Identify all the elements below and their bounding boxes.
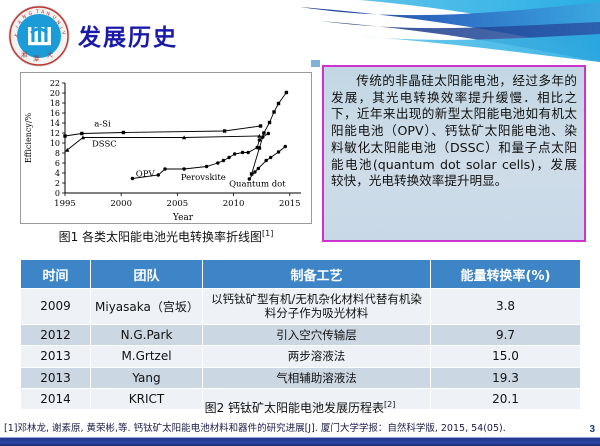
table-header-row: 时间 团队 制备工艺 能量转换率(%) [21, 260, 581, 289]
svg-text:10: 10 [50, 139, 60, 148]
figure1-caption-text: 图1 各类太阳能电池光电转换率折线图 [59, 230, 262, 244]
cell-process: 两步溶液法 [203, 346, 431, 367]
figure2-caption-ref: [2] [384, 400, 395, 409]
svg-text:8: 8 [55, 149, 60, 158]
figure2-caption-text: 图2 钙钛矿太阳能电池发展历程表 [205, 401, 384, 415]
figure1-caption-ref: [1] [262, 229, 273, 238]
explanation-textbox: 传统的非晶硅太阳能电池，经过多年的发展，其光电转换效率提升缓慢．相比之下，近年来… [322, 65, 586, 242]
perovskite-history-table: 时间 团队 制备工艺 能量转换率(%) 2009Miyasaka（宫坂）以钙钛矿… [20, 259, 580, 410]
svg-text:DSSC: DSSC [92, 140, 117, 150]
cell-time: 2012 [21, 324, 91, 345]
cell-team: N.G.Park [91, 324, 203, 345]
svg-text:大: 大 [47, 51, 53, 59]
figure2-caption: 图2 钙钛矿太阳能电池发展历程表[2] [20, 399, 580, 416]
svg-text:4: 4 [55, 169, 60, 178]
svg-text:14: 14 [50, 119, 60, 128]
page-title: 发展历史 [78, 18, 178, 52]
svg-text:潭: 潭 [33, 55, 39, 63]
svg-text:OPV: OPV [136, 170, 156, 180]
efficiency-line-chart: 024681012141618202219952000200520102015Y… [20, 72, 312, 224]
slide-root: 湘潭大 X I A N G T A N U N I V 发展历史 0246810… [0, 0, 600, 446]
cell-process: 以钙钛矿型有机/无机杂化材料代替有机染料分子作为吸光材料 [203, 289, 431, 325]
cell-efficiency: 19.3 [431, 367, 581, 388]
column-header-process: 制备工艺 [203, 260, 431, 289]
svg-text:2015: 2015 [279, 199, 301, 209]
explanation-textbox-body: 传统的非晶硅太阳能电池，经过多年的发展，其光电转换效率提升缓慢．相比之下，近年来… [331, 73, 577, 190]
svg-text:2005: 2005 [167, 199, 189, 209]
table-row: 2013Yang气相辅助溶液法19.3 [21, 367, 581, 388]
svg-text:1995: 1995 [54, 199, 76, 209]
svg-text:2000: 2000 [110, 199, 132, 209]
svg-text:16: 16 [50, 109, 60, 118]
page-number: 3 [589, 424, 595, 435]
cell-process: 引入空穴传输层 [203, 324, 431, 345]
header-swoosh-decoration [240, 0, 600, 62]
svg-text:12: 12 [50, 129, 60, 138]
cell-efficiency: 9.7 [431, 324, 581, 345]
table-row: 2012N.G.Park引入空穴传输层9.7 [21, 324, 581, 345]
table-row: 2009Miyasaka（宫坂）以钙钛矿型有机/无机杂化材料代替有机染料分子作为… [21, 289, 581, 325]
cell-efficiency: 3.8 [431, 289, 581, 325]
cell-time: 2013 [21, 346, 91, 367]
svg-text:18: 18 [50, 99, 60, 108]
table-row: 2013M.Grtzel两步溶液法15.0 [21, 346, 581, 367]
cell-process: 气相辅助溶液法 [203, 367, 431, 388]
table-body: 2009Miyasaka（宫坂）以钙钛矿型有机/无机杂化材料代替有机染料分子作为… [21, 289, 581, 410]
xiangtan-university-logo-icon: 湘潭大 X I A N G T A N U N I V [6, 5, 72, 67]
svg-text:20: 20 [50, 89, 60, 98]
svg-text:6: 6 [55, 159, 60, 168]
cell-team: Miyasaka（宫坂） [91, 289, 203, 325]
svg-text:0: 0 [55, 189, 60, 198]
column-header-efficiency: 能量转换率(%) [431, 260, 581, 289]
svg-text:2010: 2010 [223, 199, 245, 209]
cell-time: 2009 [21, 289, 91, 325]
svg-text:a-Si: a-Si [94, 120, 111, 130]
reference-citation: [1]邓林龙, 谢素原, 黄荣彬,等. 钙钛矿太阳能电池材料和器件的研究进展[J… [4, 420, 584, 434]
svg-text:22: 22 [50, 79, 60, 88]
textbox-corner-decoration [311, 60, 320, 67]
cell-team: Yang [91, 367, 203, 388]
svg-text:Year: Year [172, 213, 194, 223]
svg-text:Quantum dot: Quantum dot [229, 180, 286, 190]
cell-time: 2013 [21, 367, 91, 388]
column-header-team: 团队 [91, 260, 203, 289]
svg-text:T: T [35, 9, 39, 15]
cell-team: M.Grtzel [91, 346, 203, 367]
column-header-time: 时间 [21, 260, 91, 289]
cell-efficiency: 15.0 [431, 346, 581, 367]
svg-text:湘: 湘 [21, 51, 27, 59]
figure1-caption: 图1 各类太阳能电池光电转换率折线图[1] [20, 228, 312, 245]
svg-text:Efficiency/%: Efficiency/% [24, 112, 33, 163]
footer-bar [0, 438, 600, 446]
svg-text:Perovskite: Perovskite [181, 173, 226, 183]
svg-text:2: 2 [55, 179, 60, 188]
